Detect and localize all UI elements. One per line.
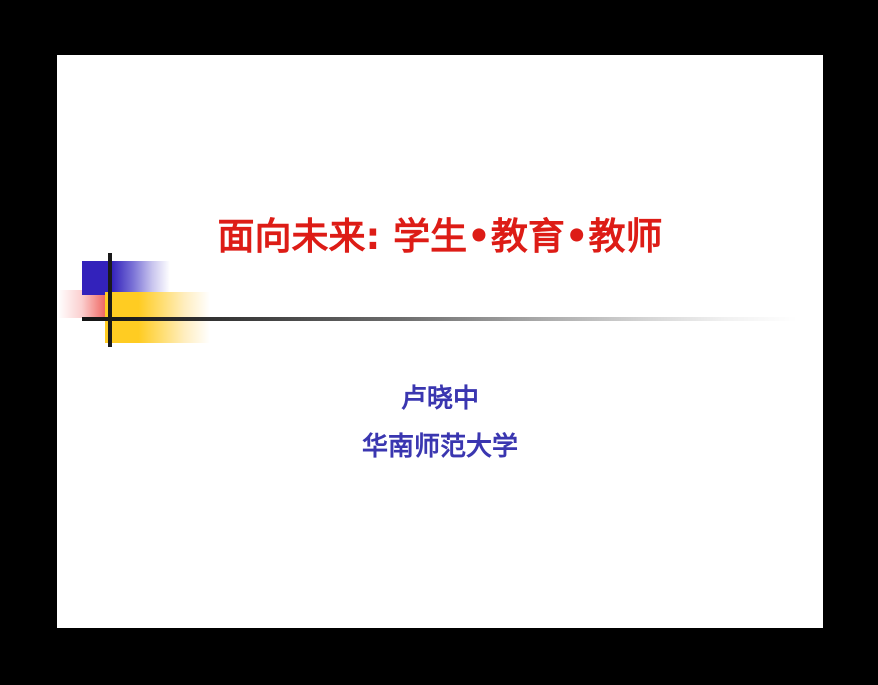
presentation-stage: 面向未来: 学生•教育•教师 卢晓中 华南师范大学 <box>0 0 878 685</box>
presenter-affiliation: 华南师范大学 <box>57 423 823 471</box>
crosshair-vertical-line <box>108 253 112 347</box>
crosshair-horizontal-rule <box>82 317 797 321</box>
blue-square-block <box>82 261 170 295</box>
slide-canvas: 面向未来: 学生•教育•教师 卢晓中 华南师范大学 <box>57 55 823 628</box>
corner-accent-motif <box>57 250 797 355</box>
slide-subtitle: 卢晓中 华南师范大学 <box>57 375 823 471</box>
presenter-name: 卢晓中 <box>57 375 823 423</box>
